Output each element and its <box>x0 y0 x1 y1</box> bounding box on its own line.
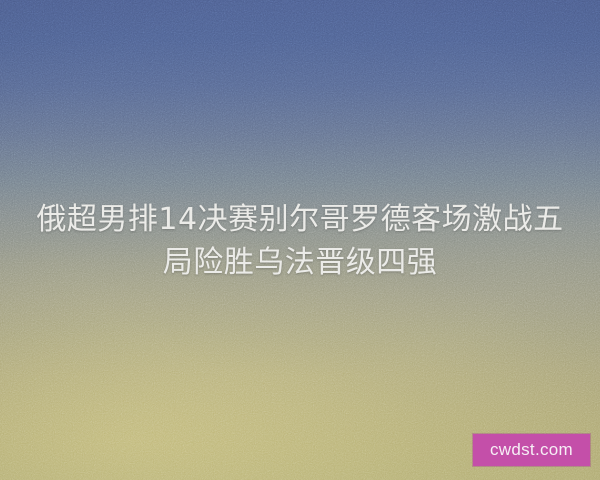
watermark-badge: cwdst.com <box>473 434 590 466</box>
headline-line-1: 俄超男排14决赛别尔哥罗德客场激战五 <box>28 198 572 241</box>
headline-line-2: 局险胜乌法晋级四强 <box>28 241 572 284</box>
image-banner: 俄超男排14决赛别尔哥罗德客场激战五 局险胜乌法晋级四强 cwdst.com <box>0 0 600 480</box>
headline-title: 俄超男排14决赛别尔哥罗德客场激战五 局险胜乌法晋级四强 <box>0 198 600 284</box>
